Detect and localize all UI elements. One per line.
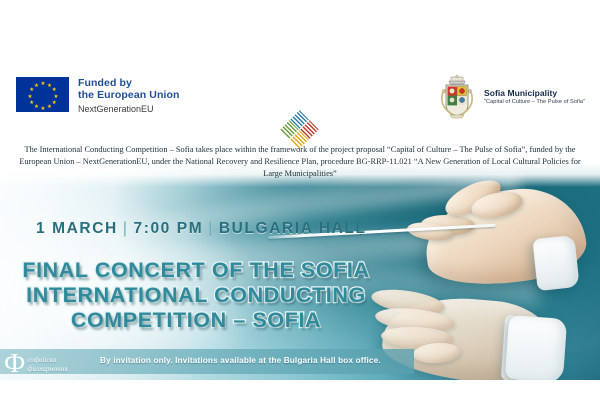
diamond-quadrant-logo-icon (279, 112, 321, 144)
eu-funding-line2: the European Union (78, 90, 180, 102)
funding-paragraph: The International Conducting Competition… (14, 144, 586, 179)
philharmonic-monogram: Ф (4, 350, 25, 377)
upper-shirt-cuff (532, 235, 579, 291)
page-title: FINAL CONCERT OF THE SOFIA INTERNATIONAL… (0, 258, 392, 333)
title-line-1: FINAL CONCERT OF THE SOFIA (0, 258, 392, 283)
title-line-2: INTERNATIONAL CONDUCTING (0, 283, 392, 308)
event-time: 7:00 PM (133, 220, 203, 237)
philharmonic-line1: софийска (27, 356, 67, 364)
event-poster: Funded by the European Union NextGenerat… (0, 20, 600, 380)
conductor-hands-image (385, 195, 600, 380)
eu-funding-logo: Funded by the European Union NextGenerat… (16, 77, 180, 116)
municipality-name: Sofia Municipality (484, 88, 585, 98)
detail-separator: | (118, 220, 134, 237)
philharmonic-line2: филхармония (27, 365, 67, 373)
eu-funding-line3: NextGenerationEU (78, 101, 180, 116)
municipality-motto: "Capital of Culture – The Pulse of Sofia… (484, 98, 585, 106)
detail-separator: | (203, 220, 219, 237)
lower-shirt-cuff (505, 315, 567, 380)
sofia-philharmonic-logo-icon: Ф софийска филхармония (4, 348, 76, 378)
eu-flag-icon (16, 77, 69, 112)
sofia-coat-of-arms-icon (437, 75, 477, 119)
event-venue: BULGARIA HALL (219, 220, 367, 237)
sofia-municipality-logo: Sofia Municipality "Capital of Culture –… (437, 75, 585, 119)
event-date: 1 MARCH (36, 220, 118, 237)
invitation-banner-text: By invitation only. Invitations availabl… (100, 356, 400, 365)
eu-funding-line1: Funded by (78, 78, 180, 90)
title-line-3: COMPETITION – SOFIA (0, 308, 392, 333)
event-details-line: 1 MARCH|7:00 PM|BULGARIA HALL (36, 220, 367, 238)
